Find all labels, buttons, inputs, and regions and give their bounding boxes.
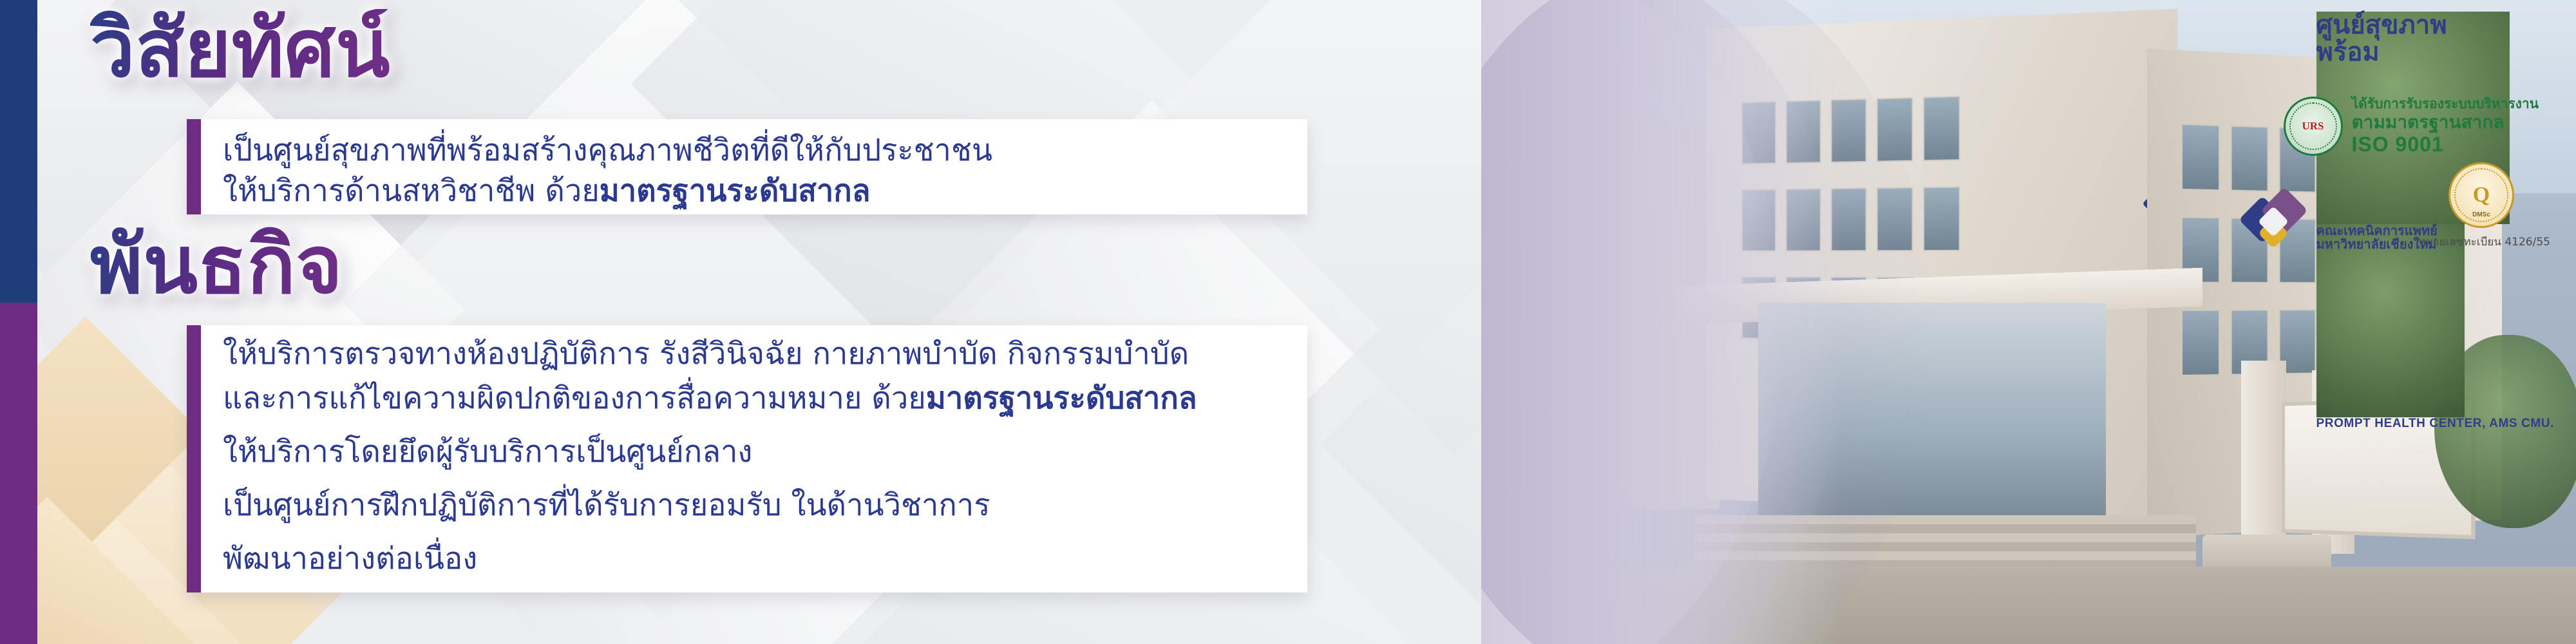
vision-line-text: ให้บริการด้านสหวิชาชีพ ด้วย <box>223 173 600 209</box>
registration-number: หมายเลขทะเบียน 4126/55 <box>2419 233 2550 251</box>
left-edge-bar-navy <box>0 0 37 303</box>
mission-line: ให้บริการตรวจทางห้องปฏิบัติการ รังสีวินิ… <box>223 334 1285 375</box>
spacer <box>223 477 1285 486</box>
iso-cert-line2: ตามมาตรฐานสากล <box>2352 112 2539 133</box>
prompt-health-center-logo-icon <box>2246 191 2305 251</box>
mission-line: พัฒนาอย่างต่อเนื่อง <box>223 539 1285 580</box>
mission-card: ให้บริการตรวจทางห้องปฏิบัติการ รังสีวินิ… <box>187 325 1307 592</box>
mission-line-text: ให้บริการโดยยึดผู้รับบริการเป็นศูนย์กลาง <box>223 434 752 469</box>
spacer <box>223 423 1285 432</box>
vision-heading: วิสัยทัศน์ <box>90 9 390 89</box>
vision-line: เป็นศูนย์สุขภาพที่พร้อมสร้างคุณภาพชีวิตท… <box>223 131 1285 171</box>
mission-line-text: พัฒนาอย่างต่อเนื่อง <box>223 541 477 576</box>
mission-line-text: และการแก้ไขความผิดปกติของการสื่อความหมาย… <box>223 381 926 416</box>
mission-accent-bar <box>187 325 201 592</box>
iso-cert-line1: ได้รับการรับรองระบบบริหารงาน <box>2352 97 2539 112</box>
brand-faculty-th: คณะเทคนิคการแพทย์ มหาวิทยาลัยเชียงใหม่ <box>2316 224 2465 417</box>
vision-card: เป็นศูนย์สุขภาพที่พร้อมสร้างคุณภาพชีวิตท… <box>187 119 1307 214</box>
q-seal-sub: DMSc <box>2450 211 2512 218</box>
mission-line: ให้บริการโดยยึดผู้รับบริการเป็นศูนย์กลาง <box>223 432 1285 473</box>
vision-line-text: เป็นศูนย์สุขภาพที่พร้อมสร้างคุณภาพชีวิตท… <box>223 133 992 168</box>
vision-mission-banner: วิสัยทัศน์ เป็นศูนย์สุขภาพที่พร้อมสร้างค… <box>0 0 2576 644</box>
vision-line: ให้บริการด้านสหวิชาชีพ ด้วยมาตรฐานระดับส… <box>223 171 1285 212</box>
vision-line-bold: มาตรฐานระดับสากล <box>600 173 871 209</box>
spacer <box>223 530 1285 539</box>
vision-accent-bar <box>187 119 201 214</box>
mission-line-text: เป็นศูนย์การฝึกปฏิบัติการที่ได้รับการยอม… <box>223 488 990 523</box>
mission-heading: พันธกิจ <box>90 225 343 305</box>
iso-certification-badge: URS ได้รับการรับรองระบบบริหารงาน ตามมาตร… <box>2284 97 2539 156</box>
wave-shape-violet-soft <box>1481 0 1932 644</box>
q-dmsc-seal-icon: Q DMSc <box>2448 162 2514 228</box>
brand-name-en: PROMPT HEALTH CENTER, AMS CMU. <box>2316 417 2555 430</box>
mission-line: เป็นศูนย์การฝึกปฏิบัติการที่ได้รับการยอม… <box>223 486 1285 526</box>
quality-certification-badge: Q DMSc <box>2448 162 2514 228</box>
mission-line: และการแก้ไขความผิดปกติของการสื่อความหมาย… <box>223 379 1285 419</box>
mission-line-text: ให้บริการตรวจทางห้องปฏิบัติการ รังสีวินิ… <box>223 336 1189 372</box>
urs-seal-icon: URS <box>2284 97 2343 156</box>
left-edge-bar-purple <box>0 303 37 644</box>
mission-line-bold: มาตรฐานระดับสากล <box>926 381 1197 416</box>
iso-cert-standard: ISO 9001 <box>2352 133 2539 156</box>
